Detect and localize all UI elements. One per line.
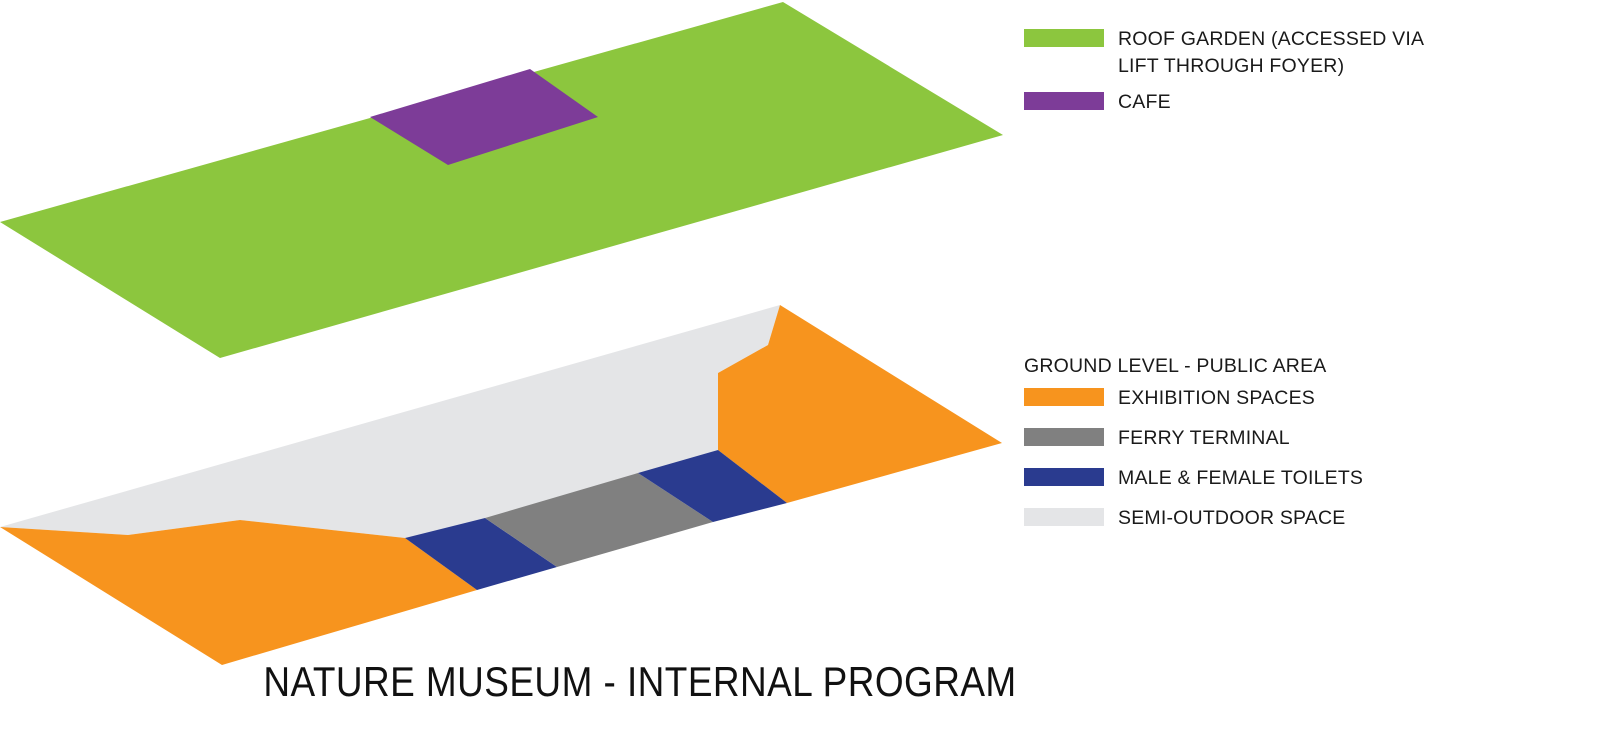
toilets-swatch <box>1024 468 1104 486</box>
legend-label-ferry-terminal: FERRY TERMINAL <box>1118 425 1290 452</box>
legend-item-exhibition-spaces: EXHIBITION SPACES <box>1024 385 1363 412</box>
legend-item-roof-garden: ROOF GARDEN (ACCESSED VIA LIFT THROUGH F… <box>1024 26 1424 80</box>
legend-item-semi-outdoor: SEMI-OUTDOOR SPACE <box>1024 505 1363 532</box>
legend-label-toilets: MALE & FEMALE TOILETS <box>1118 465 1363 492</box>
legend-item-ferry-terminal: FERRY TERMINAL <box>1024 425 1363 452</box>
legend-roof-level: ROOF GARDEN (ACCESSED VIA LIFT THROUGH F… <box>1024 26 1424 125</box>
legend-item-cafe: CAFE <box>1024 89 1424 116</box>
legend-label-semi-outdoor: SEMI-OUTDOOR SPACE <box>1118 505 1346 532</box>
cafe-swatch <box>1024 92 1104 110</box>
legend-label-roof-garden: ROOF GARDEN (ACCESSED VIA LIFT THROUGH F… <box>1118 26 1424 80</box>
page-title: NATURE MUSEUM - INTERNAL PROGRAM <box>77 658 1203 706</box>
legend-ground-level: GROUND LEVEL - PUBLIC AREA EXHIBITION SP… <box>1024 356 1363 545</box>
ferry-terminal-swatch <box>1024 428 1104 446</box>
semi-outdoor-swatch <box>1024 508 1104 526</box>
roof-garden-plane <box>0 2 1003 358</box>
legend-label-exhibition-spaces: EXHIBITION SPACES <box>1118 385 1315 412</box>
roof-garden-swatch <box>1024 29 1104 47</box>
legend-item-toilets: MALE & FEMALE TOILETS <box>1024 465 1363 492</box>
exhibition-plane-left <box>0 520 477 665</box>
legend-label-cafe: CAFE <box>1118 89 1171 116</box>
exhibition-spaces-swatch <box>1024 388 1104 406</box>
legend-ground-level-title: GROUND LEVEL - PUBLIC AREA <box>1024 356 1363 377</box>
